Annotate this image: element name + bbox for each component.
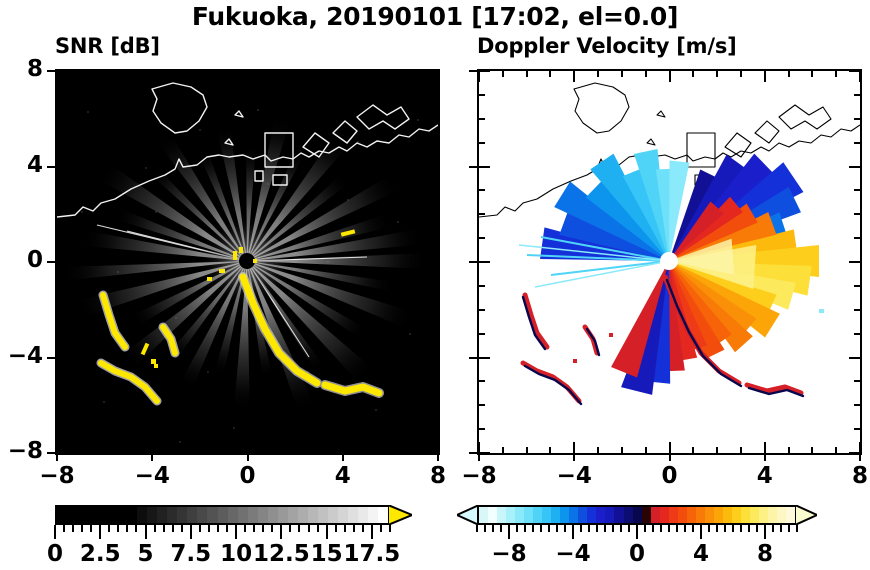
colorbar-segment — [723, 507, 732, 523]
x-tick — [645, 447, 647, 453]
colorbar-tick — [516, 525, 518, 532]
colorbar-segment — [77, 507, 87, 523]
x-tick — [318, 71, 320, 77]
y-tick — [479, 70, 490, 72]
y-major-tick — [469, 261, 477, 263]
y-axis-label: 8 — [0, 56, 43, 82]
x-tick — [835, 71, 837, 77]
snr-colorbar-over-arrow — [388, 505, 412, 525]
x-tick — [318, 447, 320, 453]
x-tick — [270, 71, 272, 77]
colorbar-tick — [724, 525, 726, 532]
doppler-colorbar-under-arrow — [457, 505, 479, 525]
y-tick — [479, 142, 485, 144]
colorbar-tick — [604, 525, 606, 532]
y-major-tick — [47, 70, 55, 72]
colorbar-segment — [750, 507, 759, 523]
y-tick — [479, 380, 485, 382]
colorbar-tick — [716, 525, 718, 532]
x-tick — [692, 447, 694, 453]
x-tick — [342, 71, 344, 82]
colorbar-tick — [271, 525, 273, 532]
colorbar-tick — [780, 525, 782, 532]
colorbar-tick — [580, 525, 582, 532]
x-tick — [270, 447, 272, 453]
x-tick — [80, 447, 82, 453]
colorbar-tick — [190, 525, 192, 539]
y-tick — [432, 333, 438, 335]
colorbar-segment — [308, 507, 318, 523]
x-tick — [413, 447, 415, 453]
x-tick — [175, 447, 177, 453]
colorbar-tick — [708, 525, 710, 532]
colorbar-tick — [253, 525, 255, 532]
colorbar-segment — [197, 507, 207, 523]
x-tick — [645, 71, 647, 77]
colorbar-tick — [54, 525, 56, 539]
colorbar-tick — [556, 525, 558, 532]
colorbar-tick — [117, 525, 119, 532]
colorbar-segment — [97, 507, 107, 523]
colorbar-tick — [317, 525, 319, 532]
y-tick — [432, 237, 438, 239]
x-tick — [502, 447, 504, 453]
y-tick — [854, 333, 860, 335]
colorbar-tick-label: 17.5 — [342, 541, 402, 567]
x-tick — [151, 442, 153, 453]
y-tick — [57, 70, 68, 72]
colorbar-segment — [127, 507, 137, 523]
colorbar-segment — [328, 507, 338, 523]
colorbar-tick — [588, 525, 590, 532]
colorbar-tick — [796, 525, 798, 532]
colorbar-segment — [278, 507, 288, 523]
colorbar-tick — [308, 525, 310, 532]
colorbar-segment — [759, 507, 768, 523]
y-tick — [57, 237, 63, 239]
y-tick — [432, 380, 438, 382]
y-tick — [57, 118, 63, 120]
x-tick — [669, 71, 671, 82]
x-tick — [859, 71, 861, 82]
colorbar-tick — [660, 525, 662, 532]
y-tick — [479, 285, 485, 287]
x-tick — [764, 71, 766, 82]
colorbar-tick — [476, 525, 478, 532]
colorbar-tick — [280, 525, 282, 539]
x-tick — [199, 447, 201, 453]
colorbar-tick — [226, 525, 228, 532]
colorbar-tick-label: 8 — [735, 541, 795, 567]
x-tick — [835, 447, 837, 453]
colorbar-segment — [741, 507, 750, 523]
y-tick — [427, 70, 438, 72]
colorbar-segment — [318, 507, 328, 523]
colorbar-segment — [137, 507, 147, 523]
colorbar-segment — [87, 507, 97, 523]
colorbar-tick — [564, 525, 566, 532]
y-tick — [57, 309, 63, 311]
colorbar-segment — [488, 507, 497, 523]
colorbar-segment — [298, 507, 308, 523]
colorbar-segment — [596, 507, 605, 523]
colorbar-segment — [497, 507, 506, 523]
snr-panel-subtitle: SNR [dB] — [55, 34, 160, 58]
x-tick — [764, 442, 766, 453]
colorbar-tick — [652, 525, 654, 532]
colorbar-tick — [208, 525, 210, 532]
x-tick — [175, 71, 177, 77]
colorbar-tick — [81, 525, 83, 532]
colorbar-tick — [145, 525, 147, 539]
colorbar-segment — [660, 507, 669, 523]
colorbar-segment — [258, 507, 268, 523]
colorbar-segment — [117, 507, 127, 523]
y-tick — [479, 333, 485, 335]
x-major-tick — [573, 453, 575, 461]
y-tick — [849, 357, 860, 359]
y-tick — [57, 285, 63, 287]
x-major-tick — [247, 453, 249, 461]
colorbar-segment — [187, 507, 197, 523]
x-tick — [366, 447, 368, 453]
x-major-tick — [859, 453, 861, 461]
colorbar-segment — [358, 507, 368, 523]
y-tick — [854, 380, 860, 382]
colorbar-tick — [644, 525, 646, 532]
colorbar-tick — [235, 525, 237, 539]
y-tick — [479, 261, 490, 263]
colorbar-tick — [772, 525, 774, 532]
y-tick — [432, 118, 438, 120]
y-major-tick — [469, 452, 477, 454]
x-tick — [621, 71, 623, 77]
x-major-tick — [56, 453, 58, 461]
colorbar-tick — [108, 525, 110, 532]
colorbar-tick — [532, 525, 534, 532]
x-tick — [151, 71, 153, 82]
colorbar-segment — [515, 507, 524, 523]
y-tick — [432, 309, 438, 311]
y-axis-label: 0 — [0, 247, 43, 273]
x-axis-label: 4 — [737, 463, 793, 489]
colorbar-tick — [668, 525, 670, 532]
x-tick — [437, 442, 439, 453]
colorbar-segment — [687, 507, 696, 523]
y-tick — [57, 261, 68, 263]
y-major-tick — [47, 261, 55, 263]
colorbar-segment — [167, 507, 177, 523]
x-tick — [716, 447, 718, 453]
y-tick — [427, 357, 438, 359]
colorbar-segment — [238, 507, 248, 523]
y-tick — [432, 213, 438, 215]
colorbar-tick — [756, 525, 758, 532]
snr-colorbar-gradient[interactable] — [55, 505, 390, 525]
y-major-tick — [47, 452, 55, 454]
colorbar-segment — [147, 507, 157, 523]
y-major-tick — [47, 357, 55, 359]
x-axis-label: 4 — [315, 463, 371, 489]
doppler-panel[interactable] — [477, 69, 862, 455]
colorbar-segment — [714, 507, 723, 523]
colorbar-tick — [63, 525, 65, 532]
x-tick — [389, 447, 391, 453]
y-tick — [854, 309, 860, 311]
x-major-tick — [151, 453, 153, 461]
colorbar-segment — [506, 507, 515, 523]
colorbar-segment — [768, 507, 777, 523]
colorbar-segment — [107, 507, 117, 523]
y-tick — [432, 94, 438, 96]
x-tick — [811, 71, 813, 77]
x-tick — [549, 71, 551, 77]
y-axis-label: −8 — [0, 438, 43, 464]
x-tick — [199, 71, 201, 77]
x-axis-label: −4 — [546, 463, 602, 489]
colorbar-tick — [700, 525, 702, 539]
colorbar-tick — [548, 525, 550, 532]
y-tick — [854, 118, 860, 120]
y-tick — [479, 166, 490, 168]
y-tick — [854, 237, 860, 239]
y-tick — [432, 142, 438, 144]
y-tick — [57, 142, 63, 144]
snr-plot-canvas — [57, 71, 438, 453]
colorbar-segment — [268, 507, 278, 523]
colorbar-tick — [126, 525, 128, 532]
colorbar-tick — [764, 525, 766, 539]
x-tick — [127, 71, 129, 77]
colorbar-segment — [228, 507, 238, 523]
x-tick — [788, 71, 790, 77]
x-tick — [294, 71, 296, 77]
colorbar-tick — [344, 525, 346, 532]
colorbar-segment — [348, 507, 358, 523]
colorbar-segment — [533, 507, 542, 523]
x-tick — [413, 71, 415, 77]
colorbar-tick — [335, 525, 337, 532]
doppler-plot-canvas — [479, 71, 860, 453]
colorbar-segment — [614, 507, 623, 523]
x-tick — [597, 71, 599, 77]
colorbar-segment — [705, 507, 714, 523]
colorbar-tick — [389, 525, 391, 532]
colorbar-segment — [248, 507, 258, 523]
y-tick — [479, 118, 485, 120]
colorbar-tick — [154, 525, 156, 532]
colorbar-tick — [732, 525, 734, 532]
x-tick — [811, 447, 813, 453]
x-tick — [294, 447, 296, 453]
x-tick — [104, 447, 106, 453]
x-tick — [247, 442, 249, 453]
colorbar-tick — [692, 525, 694, 532]
x-tick — [104, 71, 106, 77]
y-tick — [57, 428, 63, 430]
y-tick — [479, 309, 485, 311]
colorbar-tick — [500, 525, 502, 532]
colorbar-tick — [371, 525, 373, 539]
y-tick — [57, 357, 68, 359]
x-axis-label: 8 — [832, 463, 870, 489]
x-axis-label: 0 — [642, 463, 698, 489]
colorbar-segment — [633, 507, 642, 523]
x-tick — [223, 447, 225, 453]
colorbar-tick — [788, 525, 790, 532]
colorbar-tick — [676, 525, 678, 532]
colorbar-tick — [289, 525, 291, 532]
colorbar-tick — [572, 525, 574, 539]
colorbar-tick — [99, 525, 101, 539]
figure-root: Fukuoka, 20190101 [17:02, el=0.0] SNR [d… — [0, 0, 870, 570]
x-tick — [621, 447, 623, 453]
y-major-tick — [469, 70, 477, 72]
x-tick — [549, 447, 551, 453]
x-tick — [56, 71, 58, 82]
x-tick — [669, 442, 671, 453]
y-tick — [849, 261, 860, 263]
colorbar-segment — [777, 507, 786, 523]
colorbar-segment — [524, 507, 533, 523]
colorbar-segment — [605, 507, 614, 523]
x-tick — [247, 71, 249, 82]
figure-title: Fukuoka, 20190101 [17:02, el=0.0] — [0, 2, 870, 31]
x-tick — [502, 71, 504, 77]
x-major-tick — [342, 453, 344, 461]
colorbar-segment — [560, 507, 569, 523]
colorbar-tick — [612, 525, 614, 532]
colorbar-tick — [596, 525, 598, 532]
colorbar-tick — [90, 525, 92, 532]
x-tick — [223, 71, 225, 77]
x-tick — [573, 442, 575, 453]
x-major-tick — [669, 453, 671, 461]
colorbar-tick — [484, 525, 486, 532]
y-tick — [854, 285, 860, 287]
colorbar-segment — [378, 507, 388, 523]
x-tick — [573, 71, 575, 82]
snr-panel[interactable] — [55, 69, 440, 455]
y-tick — [427, 261, 438, 263]
x-tick — [127, 447, 129, 453]
colorbar-tick — [740, 525, 742, 532]
colorbar-tick — [199, 525, 201, 532]
colorbar-tick — [492, 525, 494, 532]
x-axis-label: −4 — [124, 463, 180, 489]
colorbar-tick — [636, 525, 638, 539]
colorbar-segment — [678, 507, 687, 523]
y-tick — [479, 237, 485, 239]
colorbar-segment — [177, 507, 187, 523]
x-tick — [788, 447, 790, 453]
colorbar-segment — [542, 507, 551, 523]
y-tick — [854, 189, 860, 191]
colorbar-segment — [157, 507, 167, 523]
y-tick — [479, 404, 485, 406]
x-axis-label: 0 — [220, 463, 276, 489]
colorbar-segment — [207, 507, 217, 523]
doppler-colorbar-over-arrow — [795, 505, 817, 525]
colorbar-segment — [696, 507, 705, 523]
colorbar-tick — [524, 525, 526, 532]
colorbar-tick — [684, 525, 686, 532]
colorbar-tick — [362, 525, 364, 532]
x-axis-label: −8 — [451, 463, 507, 489]
y-tick — [854, 94, 860, 96]
colorbar-segment — [218, 507, 228, 523]
colorbar-tick — [380, 525, 382, 532]
colorbar-tick — [353, 525, 355, 532]
y-tick — [479, 357, 490, 359]
doppler-colorbar-gradient[interactable] — [477, 505, 797, 525]
x-tick — [859, 442, 861, 453]
colorbar-segment — [786, 507, 795, 523]
doppler-panel-subtitle: Doppler Velocity [m/s] — [477, 34, 737, 58]
y-tick — [57, 452, 68, 454]
colorbar-tick — [163, 525, 165, 532]
x-tick — [437, 71, 439, 82]
colorbar-tick — [262, 525, 264, 532]
y-major-tick — [469, 166, 477, 168]
colorbar-segment — [479, 507, 488, 523]
colorbar-segment — [551, 507, 560, 523]
y-tick — [432, 189, 438, 191]
x-tick — [478, 71, 480, 82]
colorbar-segment — [642, 507, 651, 523]
y-tick — [854, 428, 860, 430]
y-tick — [427, 166, 438, 168]
x-tick — [716, 71, 718, 77]
y-tick — [57, 166, 68, 168]
colorbar-tick — [72, 525, 74, 532]
colorbar-tick — [620, 525, 622, 532]
colorbar-segment — [338, 507, 348, 523]
colorbar-segment — [651, 507, 660, 523]
x-tick — [526, 447, 528, 453]
y-tick — [854, 213, 860, 215]
y-tick — [57, 94, 63, 96]
colorbar-tick-label: 4 — [671, 541, 731, 567]
colorbar-tick — [172, 525, 174, 532]
x-tick — [80, 71, 82, 77]
colorbar-segment — [587, 507, 596, 523]
colorbar-tick-label: 0 — [607, 541, 667, 567]
colorbar-segment — [57, 507, 67, 523]
y-tick — [854, 142, 860, 144]
colorbar-tick — [135, 525, 137, 532]
y-tick — [479, 189, 485, 191]
y-major-tick — [469, 357, 477, 359]
colorbar-tick — [217, 525, 219, 532]
x-major-tick — [764, 453, 766, 461]
colorbar-tick-label: −8 — [479, 541, 539, 567]
x-tick — [366, 71, 368, 77]
y-tick — [432, 285, 438, 287]
colorbar-tick — [326, 525, 328, 539]
x-tick — [740, 71, 742, 77]
colorbar-tick — [181, 525, 183, 532]
colorbar-tick — [244, 525, 246, 532]
colorbar-segment — [732, 507, 741, 523]
colorbar-segment — [368, 507, 378, 523]
colorbar-segment — [67, 507, 77, 523]
y-axis-label: 4 — [0, 152, 43, 178]
y-tick — [432, 428, 438, 430]
x-major-tick — [437, 453, 439, 461]
x-axis-label: −8 — [29, 463, 85, 489]
y-axis-label: −4 — [0, 343, 43, 369]
